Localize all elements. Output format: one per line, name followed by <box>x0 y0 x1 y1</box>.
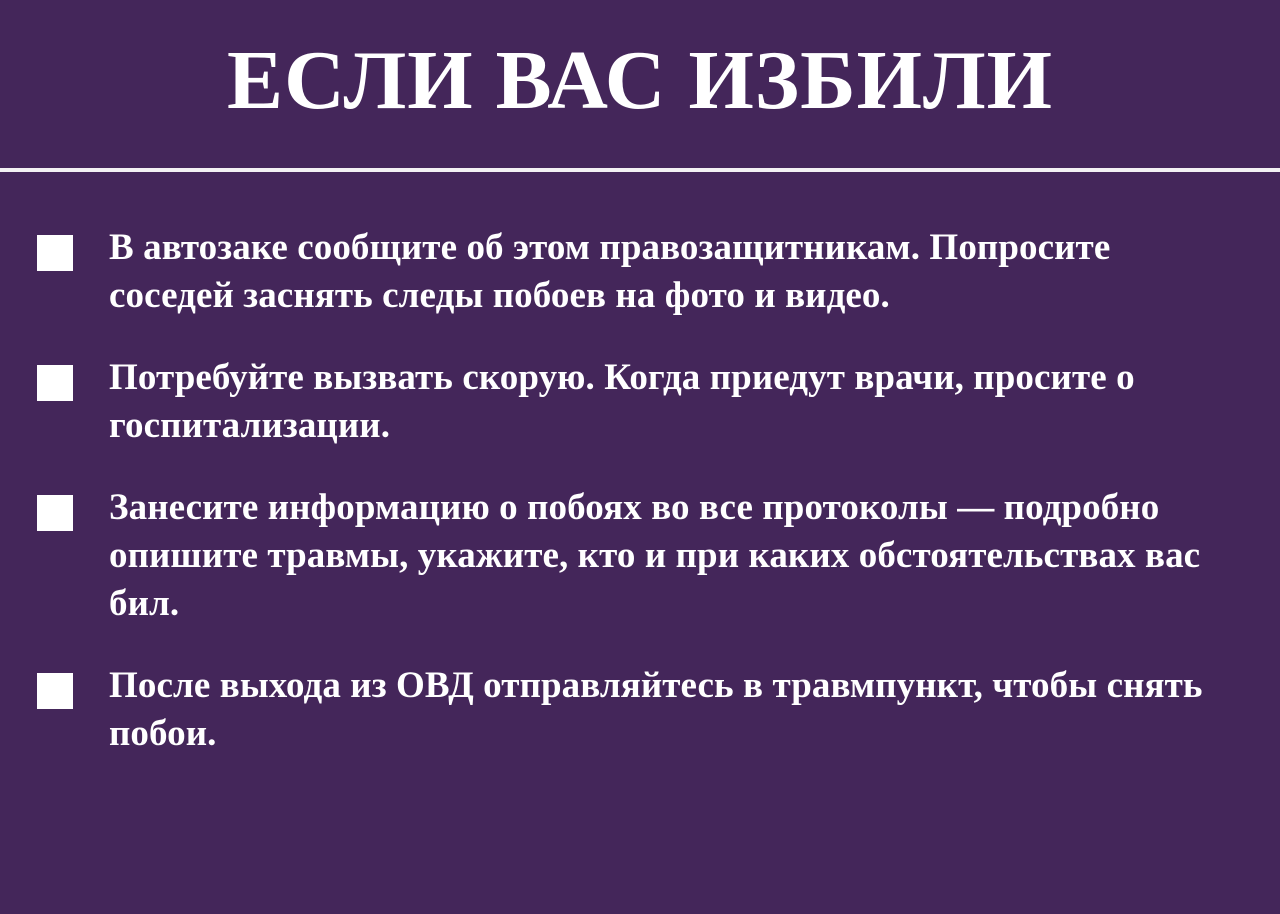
tips-list: В автозаке сообщите об этом правозащитни… <box>37 224 1240 758</box>
list-item: Потребуйте вызвать скорую. Когда приедут… <box>37 354 1240 450</box>
tip-text: В автозаке сообщите об этом правозащитни… <box>109 224 1209 320</box>
poster-root: ЕСЛИ ВАС ИЗБИЛИ В автозаке сообщите об э… <box>0 0 1280 914</box>
list-item: Занесите информацию о побоях во все прот… <box>37 484 1240 628</box>
square-bullet-icon <box>37 235 73 271</box>
square-bullet-icon <box>37 673 73 709</box>
tips-section: В автозаке сообщите об этом правозащитни… <box>0 172 1280 914</box>
tip-text: Потребуйте вызвать скорую. Когда приедут… <box>109 354 1209 450</box>
list-item: В автозаке сообщите об этом правозащитни… <box>37 224 1240 320</box>
page-title: ЕСЛИ ВАС ИЗБИЛИ <box>207 39 1073 129</box>
list-item: После выхода из ОВД отправляйтесь в трав… <box>37 662 1240 758</box>
square-bullet-icon <box>37 495 73 531</box>
tip-text: После выхода из ОВД отправляйтесь в трав… <box>109 662 1209 758</box>
tip-text: Занесите информацию о побоях во все прот… <box>109 484 1209 628</box>
poster-header: ЕСЛИ ВАС ИЗБИЛИ <box>0 0 1280 168</box>
square-bullet-icon <box>37 365 73 401</box>
